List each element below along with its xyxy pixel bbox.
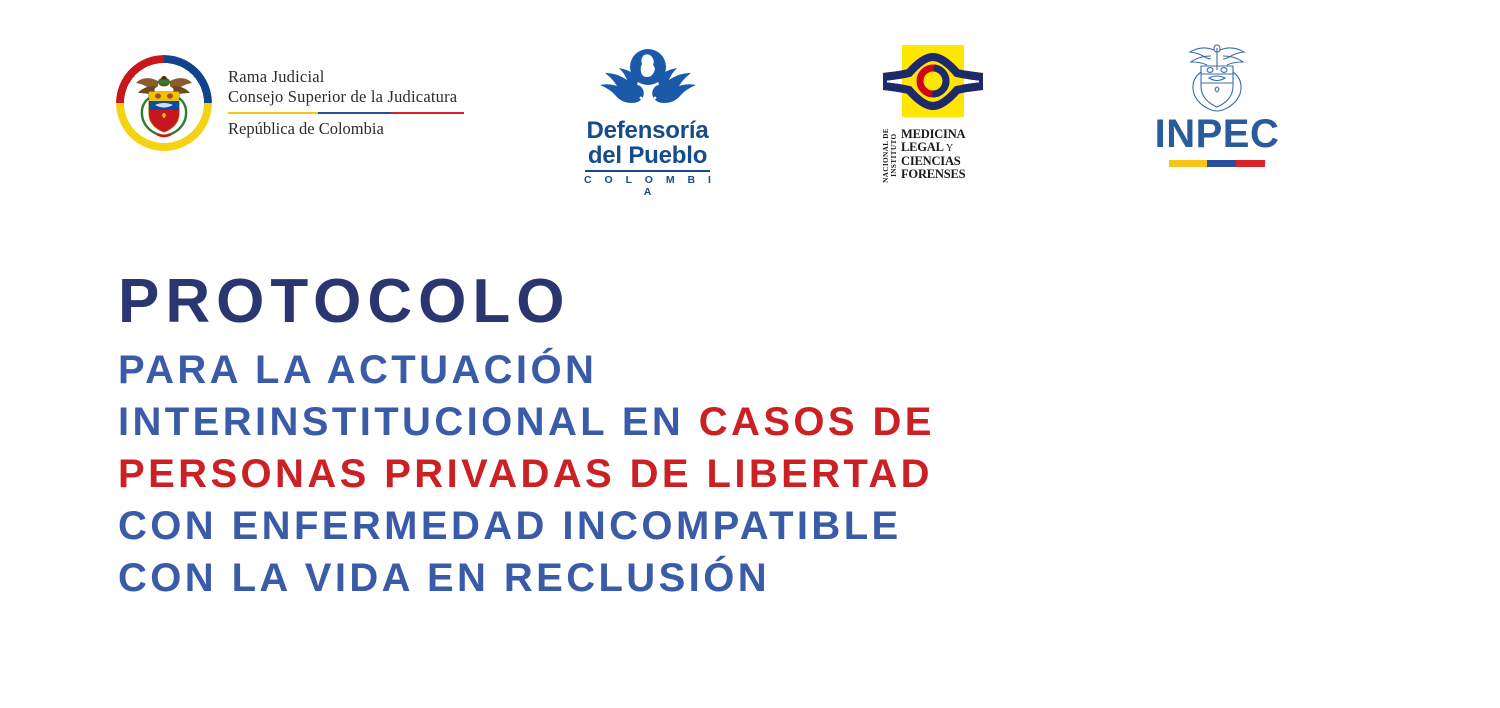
coat-of-arms-icon <box>133 68 195 138</box>
subtitle-line-2: INTERINSTITUCIONAL EN CASOS DE <box>118 396 1128 448</box>
logo-defensoria-del-pueblo: Defensoría del Pueblo C O L O M B I A <box>575 48 720 198</box>
defensoria-country: C O L O M B I A <box>575 174 720 198</box>
inpec-wordmark: INPEC <box>1142 112 1292 156</box>
logo-rama-judicial: Rama Judicial Consejo Superior de la Jud… <box>116 55 464 151</box>
rama-judicial-text: Rama Judicial Consejo Superior de la Jud… <box>228 67 464 140</box>
subtitle-line-5: CON LA VIDA EN RECLUSIÓN <box>118 552 1128 604</box>
medicina-legal-vertical-line1: INSTITUTO <box>890 128 898 183</box>
doves-colombia-map-icon <box>589 48 707 114</box>
defensoria-name-line1: Defensoría <box>575 118 720 143</box>
medicina-legal-main-line3: CIENCIAS <box>901 155 965 168</box>
subtitle-line-2-red: CASOS DE <box>699 400 935 444</box>
medicina-legal-main-line2: LEGAL <box>901 140 943 154</box>
institutional-logo-bar: Rama Judicial Consejo Superior de la Jud… <box>0 0 1500 200</box>
tricolor-divider <box>228 112 464 115</box>
rama-judicial-line2: Consejo Superior de la Judicatura <box>228 87 464 107</box>
defensoria-name-line2: del Pueblo <box>575 143 720 168</box>
subtitle-line-3: PERSONAS PRIVADAS DE LIBERTAD <box>118 448 1128 500</box>
subtitle-line-1: PARA LA ACTUACIÓN <box>118 344 1128 396</box>
subtitle-line-2-blue: INTERINSTITUCIONAL EN <box>118 400 699 444</box>
logo-medicina-legal: NACIONAL DE INSTITUTO MEDICINA LEGAL Y C… <box>872 45 994 183</box>
title-block: PROTOCOLO PARA LA ACTUACIÓN INTERINSTITU… <box>118 268 1128 604</box>
colombia-seal-ring-icon <box>116 55 212 151</box>
defensoria-underline <box>585 170 710 172</box>
subtitle-line-4: CON ENFERMEDAD INCOMPATIBLE <box>118 500 1128 552</box>
medicina-legal-text: NACIONAL DE INSTITUTO MEDICINA LEGAL Y C… <box>872 128 994 183</box>
medicina-legal-vertical-line2: NACIONAL DE <box>882 128 890 183</box>
medicina-legal-main-line4: FORENSES <box>901 168 965 181</box>
logo-inpec: INPEC <box>1142 42 1292 167</box>
medicina-legal-main-line2-suffix: Y <box>946 143 953 154</box>
rama-judicial-line3: República de Colombia <box>228 119 464 139</box>
colombia-coat-of-arms-outline-icon <box>1181 42 1253 112</box>
medicina-legal-main-text: MEDICINA LEGAL Y CIENCIAS FORENSES <box>901 128 965 183</box>
rama-judicial-line1: Rama Judicial <box>228 67 464 87</box>
page-title: PROTOCOLO <box>118 268 1128 336</box>
yellow-square-ribbon-eye-icon <box>883 45 983 125</box>
inpec-tricolor-bar <box>1169 160 1265 167</box>
